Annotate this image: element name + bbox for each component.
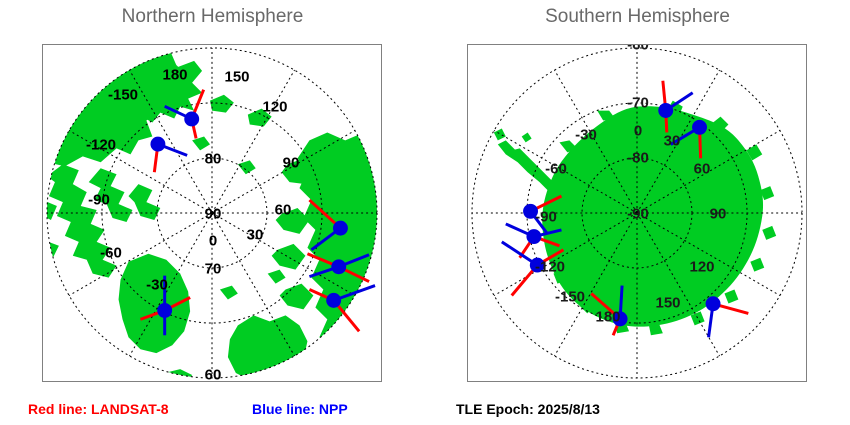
south-lon-label-120: 120: [689, 259, 714, 276]
northern-hemisphere-panel: Northern Hemisphere: [0, 0, 425, 425]
north-center-lat-label: 90: [205, 206, 222, 223]
north-lat-label-60: 60: [205, 367, 222, 383]
south-lon-label-30: 30: [664, 133, 681, 150]
south-lon-label-150: 150: [655, 295, 680, 312]
satellite-tracker-page: Northern Hemisphere: [0, 0, 850, 425]
southern-hemisphere-panel: Southern Hemisphere: [425, 0, 850, 425]
south-lon-label-60: 60: [694, 161, 711, 178]
south-lon-label-180: 180: [595, 309, 620, 326]
southern-plot-area[interactable]: -90 -80 -70 -60 0 30 60 90 120 150 180 -…: [467, 44, 807, 382]
south-lon-label-0: 0: [634, 123, 642, 140]
north-lon-label-60: 60: [275, 202, 292, 219]
south-lat-label-neg60: -60: [627, 44, 649, 54]
legend-npp: Blue line: NPP: [252, 401, 348, 417]
south-lat-label-neg70: -70: [627, 95, 649, 112]
north-lon-label-neg30: -30: [146, 277, 168, 294]
south-center-lat-label: -90: [627, 206, 649, 223]
tle-epoch-label: TLE Epoch: 2025/8/13: [456, 401, 600, 417]
south-lon-label-neg60: -60: [545, 161, 567, 178]
north-lon-label-neg90: -90: [88, 192, 110, 209]
south-lon-label-neg90: -90: [535, 209, 557, 226]
north-lon-label-neg60: -60: [100, 245, 122, 262]
north-lon-label-neg120: -120: [86, 137, 116, 154]
north-lon-label-30: 30: [247, 227, 264, 244]
north-lat-label-80: 80: [205, 151, 222, 168]
northern-plot-area[interactable]: 90 80 70 60 0 30 60 90 120 150 180 -150 …: [42, 44, 382, 382]
south-lat-label-neg80: -80: [627, 150, 649, 167]
north-lon-label-0: 0: [209, 233, 217, 250]
north-lon-label-180: 180: [162, 67, 187, 84]
north-lon-label-neg150: -150: [108, 87, 138, 104]
northern-panel-title: Northern Hemisphere: [0, 6, 425, 28]
north-lon-label-120: 120: [262, 99, 287, 116]
north-lat-label-70: 70: [205, 261, 222, 278]
legend-landsat8: Red line: LANDSAT-8: [28, 401, 169, 417]
south-lon-label-neg30: -30: [575, 127, 597, 144]
south-lon-label-neg120: -120: [535, 259, 565, 276]
south-lon-label-neg150: -150: [555, 289, 585, 306]
south-lon-label-90: 90: [710, 206, 727, 223]
north-lon-label-150: 150: [224, 69, 249, 86]
north-lon-label-90: 90: [283, 155, 300, 172]
southern-panel-title: Southern Hemisphere: [425, 6, 850, 28]
